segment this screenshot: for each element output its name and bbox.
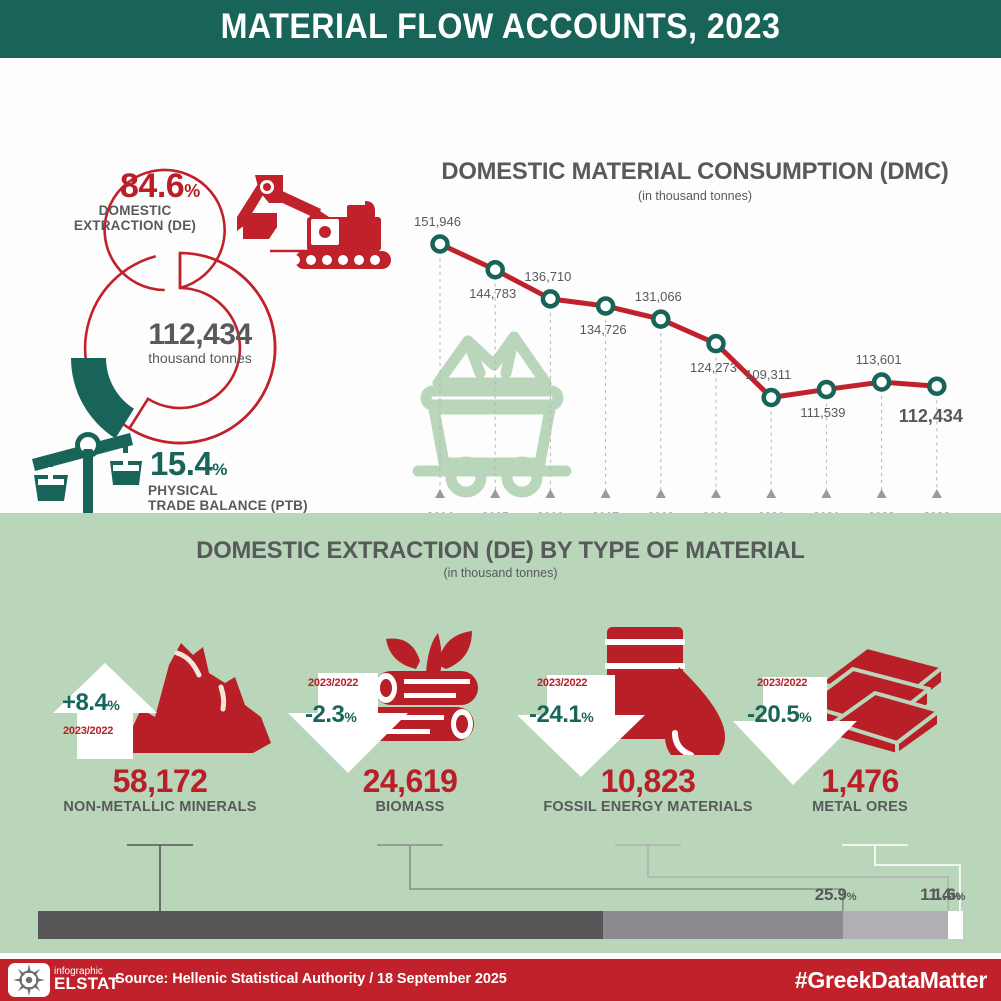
material-value: 1,476 — [735, 763, 985, 800]
share-connector — [127, 845, 603, 917]
share-percent-label: 25.9% — [815, 885, 856, 905]
source-text: Source: Hellenic Statistical Authority /… — [115, 971, 507, 987]
material-name: METAL ORES — [710, 799, 1001, 815]
header-bar: MATERIAL FLOW ACCOUNTS, 2023 — [0, 0, 1001, 58]
share-connector — [842, 845, 960, 917]
elstat-logo-box — [8, 963, 50, 997]
section2-title: DOMESTIC EXTRACTION (DE) BY TYPE OF MATE… — [15, 537, 986, 565]
change-percent: -24.1% — [529, 701, 593, 729]
footer-bar: infographic ELSTAT Source: Hellenic Stat… — [0, 959, 1001, 1001]
material-value: 24,619 — [285, 763, 535, 800]
bottom-panel: DOMESTIC EXTRACTION (DE) BY TYPE OF MATE… — [0, 513, 1001, 953]
share-connector — [377, 845, 843, 917]
infographic-page: MATERIAL FLOW ACCOUNTS, 2023 — [0, 0, 1001, 1001]
material-card-non-metallic-minerals: +8.4% 2023/2022 58,172 NON-METALLIC MINE… — [35, 613, 285, 843]
ptb-label: PHYSICAL TRADE BALANCE (PTB) — [148, 483, 388, 513]
dmc-line-chart: DOMESTIC MATERIAL CONSUMPTION (DMC) (in … — [400, 153, 990, 553]
ptb-percent: 15.4% — [150, 445, 227, 483]
change-percent: +8.4% — [62, 689, 119, 717]
material-card-metal-ores: 2023/2022 -20.5% 1,476 METAL ORES — [735, 613, 985, 843]
elstat-star-icon — [8, 963, 50, 997]
change-period: 2023/2022 — [537, 677, 587, 689]
hashtag-text: #GreekDataMatter — [795, 967, 987, 994]
share-segment — [603, 911, 842, 939]
de-label: DOMESTIC EXTRACTION (DE) — [30, 203, 240, 233]
chart-value-label: 111,539 — [800, 405, 845, 420]
page-title: MATERIAL FLOW ACCOUNTS, 2023 — [40, 7, 961, 47]
chart-value-label: 112,434 — [899, 406, 963, 427]
change-percent: -20.5% — [747, 701, 811, 729]
share-bar-area: 61.2%25.9%11.4%1.6% — [0, 843, 1001, 953]
donut-block: 84.6% DOMESTIC EXTRACTION (DE) 112,434 t… — [20, 153, 400, 553]
chart-value-label: 136,710 — [524, 269, 571, 284]
change-period: 2023/2022 — [63, 725, 113, 737]
chart-value-label: 109,311 — [745, 367, 791, 382]
logo-line2: ELSTAT — [54, 978, 119, 990]
chart-value-label: 134,726 — [580, 322, 627, 337]
share-segment — [843, 911, 948, 939]
material-value: 58,172 — [35, 763, 285, 800]
share-connector — [615, 845, 948, 917]
chart-value-label: 144,783 — [469, 286, 516, 301]
chart-value-label: 131,066 — [635, 289, 682, 304]
change-period: 2023/2022 — [308, 677, 358, 689]
share-percent-label: 1.6% — [933, 885, 965, 905]
section2-subtitle: (in thousand tonnes) — [0, 566, 1001, 580]
change-percent: -2.3% — [305, 701, 356, 729]
share-stacked-bar — [38, 911, 962, 939]
top-panel: 84.6% DOMESTIC EXTRACTION (DE) 112,434 t… — [0, 58, 1001, 513]
chart-value-label: 151,946 — [414, 214, 461, 229]
share-segment — [948, 911, 963, 939]
chart-value-label: 124,273 — [690, 360, 737, 375]
chart-value-label: 113,601 — [856, 352, 902, 367]
change-period: 2023/2022 — [757, 677, 807, 689]
share-connector-lines — [0, 837, 1001, 917]
de-percent: 84.6% — [120, 167, 200, 206]
share-segment — [38, 911, 603, 939]
elstat-logo-text: infographic ELSTAT — [54, 966, 119, 990]
